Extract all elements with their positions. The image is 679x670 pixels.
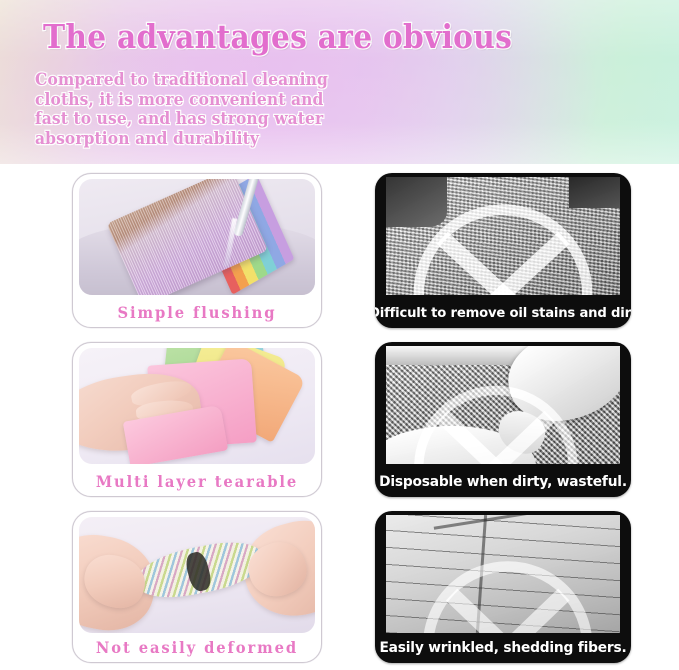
- disadvantage-image-oil-stains: [386, 177, 620, 295]
- subtitle-line-3: fast to use, and has strong water: [35, 109, 345, 129]
- advantage-caption-not-deformed: Not easily deformed: [79, 638, 315, 657]
- subtitle-line-1: Compared to traditional cleaning: [35, 70, 345, 90]
- advantage-image-not-deformed: [79, 517, 315, 633]
- advantage-caption-multi-layer: Multi layer tearable: [79, 472, 315, 491]
- subtitle-line-4: absorption and durability: [35, 129, 345, 149]
- disadvantage-caption-wrinkled: Easily wrinkled, shedding fibers.: [379, 632, 627, 663]
- advantage-image-simple-flushing: [79, 179, 315, 295]
- advantage-card-not-deformed: Not easily deformed: [72, 511, 322, 663]
- disadvantage-card-oil-stains: Difficult to remove oil stains and dirt: [375, 173, 631, 328]
- advantage-card-simple-flushing: Simple flushing: [72, 173, 322, 328]
- comparison-grid: Simple flushing Difficult to remove oil …: [0, 164, 679, 670]
- disadvantage-card-wrinkled: Easily wrinkled, shedding fibers.: [375, 511, 631, 663]
- disadvantage-image-wrinkled: [386, 515, 620, 633]
- page-subtitle: Compared to traditional cleaning cloths,…: [35, 70, 345, 148]
- advantage-image-multi-layer: [79, 348, 315, 464]
- advantage-card-multi-layer: Multi layer tearable: [72, 342, 322, 497]
- subtitle-line-2: cloths, it is more convenient and: [35, 90, 345, 110]
- disadvantage-caption-oil-stains: Difficult to remove oil stains and dirt: [379, 297, 627, 328]
- disadvantage-image-disposable: [386, 346, 620, 464]
- disadvantage-caption-disposable: Disposable when dirty, wasteful.: [379, 466, 627, 497]
- disadvantage-card-disposable: Disposable when dirty, wasteful.: [375, 342, 631, 497]
- advantage-caption-simple-flushing: Simple flushing: [79, 303, 315, 322]
- header-banner: The advantages are obvious Compared to t…: [0, 0, 679, 164]
- page-title: The advantages are obvious: [43, 19, 512, 55]
